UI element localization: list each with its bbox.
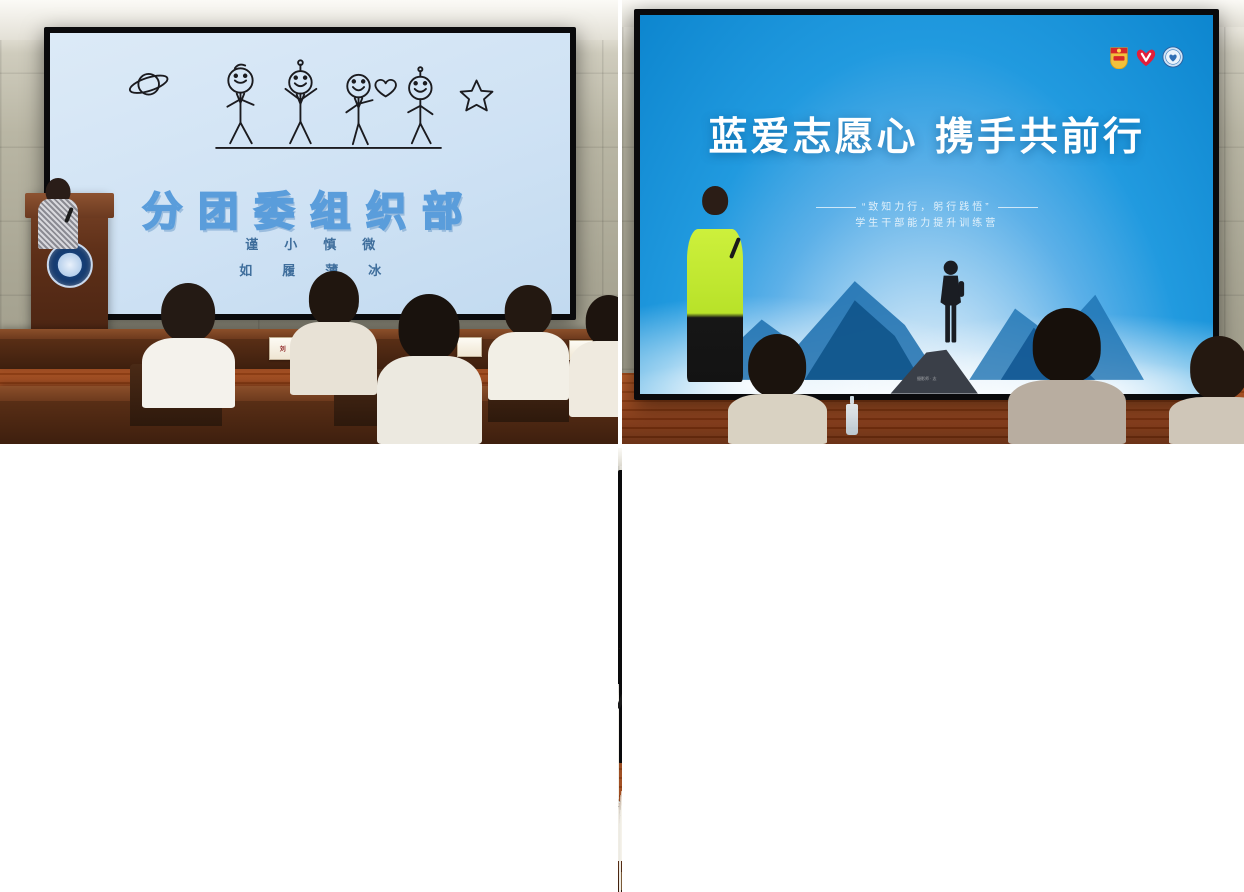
attendee-body xyxy=(488,332,568,399)
attendee-head xyxy=(1190,336,1244,399)
attendee-body xyxy=(1008,380,1126,444)
attendee-head xyxy=(505,285,552,336)
attendee xyxy=(728,369,828,444)
attendee xyxy=(290,284,377,395)
projection-screen-frame: 分团委组织部 谨小慎微 如履薄冰 xyxy=(44,27,575,320)
attendee-body xyxy=(728,394,828,444)
attendee-head xyxy=(1032,308,1101,383)
divider xyxy=(816,207,856,208)
attendee-body xyxy=(290,322,377,395)
red-heart-volunteer-badge-icon xyxy=(1135,45,1157,69)
photo-credit: 摄影师 · 志 xyxy=(917,376,937,382)
grid-gutter-vertical-bottom xyxy=(622,448,1244,892)
projection-screen-frame: 以纪律促建设，科学体系助管理 湖北工业大学 HUBEI UNIVERSITY O… xyxy=(618,470,622,763)
slide-subtitle: “致知力行，躬行践悟” 学生干部能力提升训练营 xyxy=(698,200,1156,231)
attendee xyxy=(142,302,235,409)
attendee xyxy=(1008,346,1126,444)
attendee-head xyxy=(399,294,460,361)
attendee-head xyxy=(309,271,359,326)
water-bottle xyxy=(846,404,858,435)
hall-ceiling xyxy=(618,448,622,466)
slide-subtitle-line2: 如履薄冰 xyxy=(50,260,569,279)
slide-subtitle-line2: 学生干部能力提升训练营 xyxy=(698,216,1156,232)
blue-volunteer-circle-badge-icon xyxy=(1162,45,1184,69)
attendee-body xyxy=(142,338,235,408)
attendee-head xyxy=(162,283,216,342)
slide-subtitle-line1: 谨小慎微 xyxy=(50,234,569,253)
presenter-body xyxy=(38,199,78,249)
attendee xyxy=(377,311,482,444)
person-silhouette xyxy=(935,227,966,352)
divider xyxy=(998,207,1038,208)
presenter-female xyxy=(38,178,78,249)
photo-collage: 分团委组织部 谨小慎微 如履薄冰 刘 xyxy=(0,0,1244,892)
doodle-illustration xyxy=(102,58,518,170)
panel-top-right: 蓝爱志愿心 携手共前行 “致知力行，躬行践悟” 学生干部能力提升训练营 摄影师 … xyxy=(622,0,1244,444)
communist-youth-league-badge-icon xyxy=(1108,45,1130,69)
slide-title: 分团委组织部 xyxy=(50,179,569,237)
grid-gutter-horizontal-right xyxy=(0,448,618,892)
panel-bottom-left: 以纪律促建设，科学体系助管理 湖北工业大学 HUBEI UNIVERSITY O… xyxy=(618,448,622,892)
slide-title: 蓝爱志愿心 携手共前行 xyxy=(663,106,1190,162)
presenter-head xyxy=(702,186,728,215)
attendee xyxy=(488,298,568,400)
slide-organization-department: 分团委组织部 谨小慎微 如履薄冰 xyxy=(50,33,569,314)
attendee-body xyxy=(569,341,618,417)
panel-top-left: 分团委组织部 谨小慎微 如履薄冰 刘 xyxy=(0,0,618,444)
attendee-body xyxy=(377,356,482,444)
attendee xyxy=(1169,373,1244,444)
slide-subtitle-quote: “致知力行，躬行践悟” xyxy=(862,202,992,213)
attendee-body xyxy=(1169,397,1244,444)
badge-group xyxy=(1108,45,1184,69)
attendee-head xyxy=(749,334,807,397)
attendee-head xyxy=(585,295,618,346)
attendee xyxy=(569,302,618,417)
presenter-male-vest xyxy=(687,186,743,381)
attendee-body xyxy=(621,791,622,861)
attendee xyxy=(621,754,622,861)
